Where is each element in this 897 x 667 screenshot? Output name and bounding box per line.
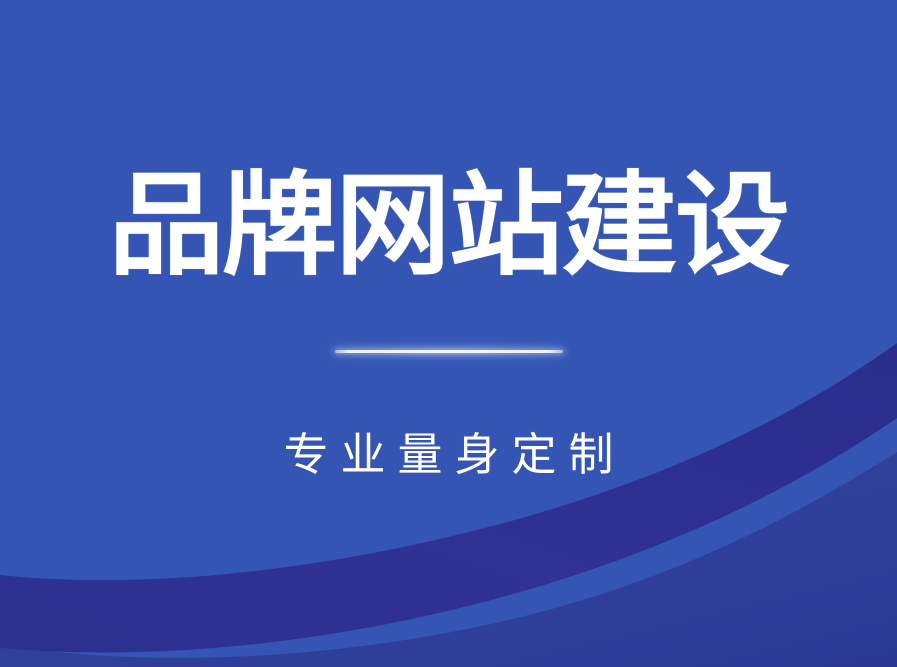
subtitle: 专业量身定制: [0, 429, 897, 481]
promo-banner: 品牌网站建设 专业量身定制: [0, 0, 897, 667]
title-divider: [335, 350, 563, 353]
divider-container: [0, 350, 897, 353]
banner-content: 品牌网站建设 专业量身定制: [0, 0, 897, 667]
page-title: 品牌网站建设: [0, 170, 897, 282]
